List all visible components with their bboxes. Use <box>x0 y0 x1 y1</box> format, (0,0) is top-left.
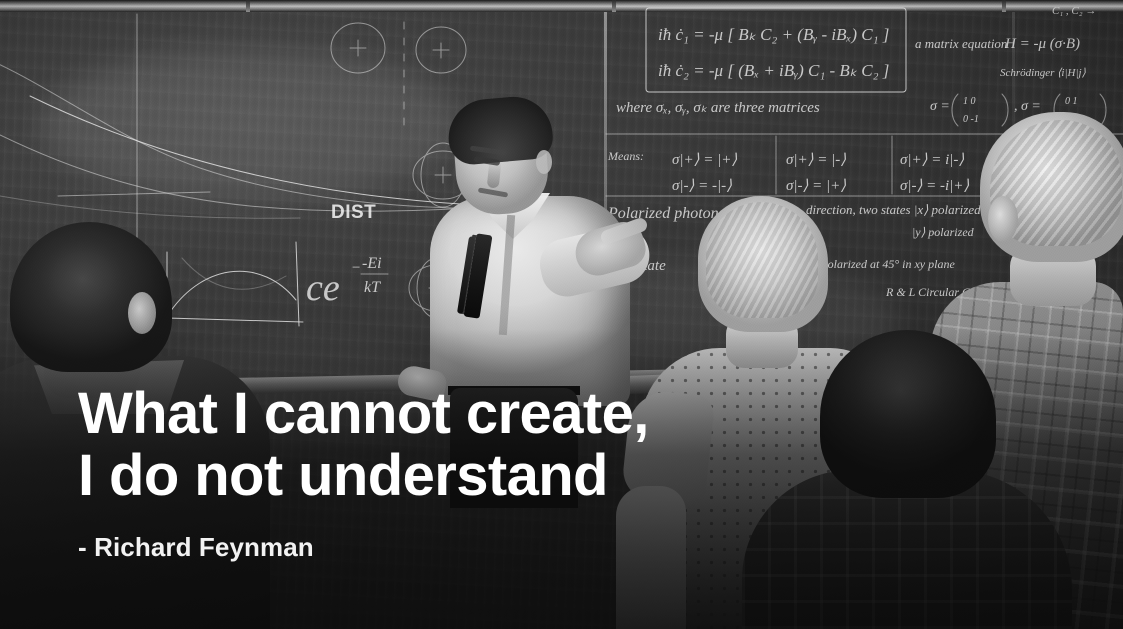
svg-text:0 -1: 0 -1 <box>963 114 979 125</box>
svg-text:0 1: 0 1 <box>1065 96 1078 107</box>
svg-text:σ =: σ = <box>930 99 950 114</box>
svg-text:σ|+⟩ = i|-⟩: σ|+⟩ = i|-⟩ <box>900 152 964 168</box>
quote-text: What I cannot create, I do not understan… <box>78 383 1063 506</box>
blackboard-panel-divider <box>1012 12 1015 132</box>
svg-text:σ|+⟩ = |+⟩: σ|+⟩ = |+⟩ <box>672 152 737 168</box>
svg-text:C₁ , C₂ →: C₁ , C₂ → <box>1052 5 1096 17</box>
chalk-boltzmann-base: ce <box>306 267 340 309</box>
woman-hair <box>698 196 828 332</box>
svg-text:σ|-⟩ = -i|+⟩: σ|-⟩ = -i|+⟩ <box>900 178 969 194</box>
svg-text:σ|-⟩ = -|-⟩: σ|-⟩ = -|-⟩ <box>672 178 732 194</box>
svg-text:−: − <box>351 260 361 276</box>
chalk-direction-line-2: |y⟩ polarized <box>912 225 975 239</box>
lecturer-ear <box>536 150 552 174</box>
chalk-means-label: Means: <box>607 149 644 163</box>
svg-text:, σ =: , σ = <box>1014 99 1041 114</box>
svg-text:1 0: 1 0 <box>963 96 976 107</box>
svg-text:σ|+⟩ = |-⟩: σ|+⟩ = |-⟩ <box>786 152 846 168</box>
quote-card: DIST ce − -Ei kT iħ ċ₁ = -μ [ Bₖ C₂ + (B… <box>0 0 1123 629</box>
chalk-equation-1: iħ ċ₁ = -μ [ Bₖ C₂ + (Bᵧ - iBₓ) C₁ ] <box>658 25 889 44</box>
chalk-plane-line: of Polarized at 45° in xy plane <box>808 257 955 271</box>
chalk-boltzmann-denominator: kT <box>364 279 381 296</box>
chalk-polarized-line: Polarized photons <box>607 205 725 222</box>
plaid-man-ear <box>988 196 1018 242</box>
chalk-equation-2: iħ ċ₂ = -μ [ (Bₓ + iBᵧ) C₁ - Bₖ C₂ ] <box>658 61 889 80</box>
svg-text:σ|-⟩ = |+⟩: σ|-⟩ = |+⟩ <box>786 178 846 194</box>
chalk-boltzmann-numerator: -Ei <box>362 255 382 272</box>
chalk-where-line: where σₓ, σᵧ, σₖ are three matrices <box>616 100 820 116</box>
student-left-ear <box>128 292 156 334</box>
chalk-note-matrix: a matrix equation <box>915 36 1007 51</box>
chalk-direction-line: direction, two states |x⟩ polarized <box>806 202 981 217</box>
quote-overlay: What I cannot create, I do not understan… <box>78 383 1063 563</box>
chalk-hamiltonian: H = -μ (σ·B) <box>1004 36 1080 52</box>
chalk-dist-label: DIST <box>331 202 376 223</box>
quote-attribution: - Richard Feynman <box>78 532 1063 563</box>
